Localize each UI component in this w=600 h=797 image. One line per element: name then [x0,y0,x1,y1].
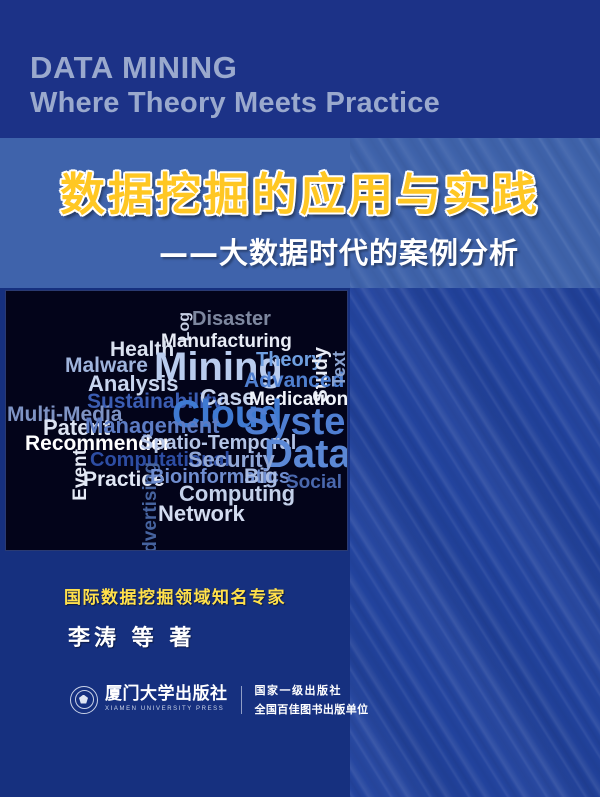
publisher-name-en: XIAMEN UNIVERSITY PRESS [105,706,228,712]
publisher-badges: 国家一级出版社 全国百佳图书出版单位 [255,682,369,717]
word-cloud-panel: LogDisasterManufacturingHealthMiningTheo… [5,290,348,551]
background-texture-lower [350,288,600,797]
book-cover: DATA MINING Where Theory Meets Practice … [0,0,600,797]
english-header: DATA MINING Where Theory Meets Practice [30,52,570,119]
publisher-badge-national: 国家一级出版社 [255,682,369,698]
publisher-badge-top100: 全国百佳图书出版单位 [255,701,369,717]
author-name: 李涛 等 著 [68,620,195,652]
publisher-names: 厦门大学出版社 XIAMEN UNIVERSITY PRESS [105,686,228,712]
word-cloud: LogDisasterManufacturingHealthMiningTheo… [6,291,347,550]
publisher-divider [241,686,242,714]
publisher-name-cn: 厦门大学出版社 [105,686,228,704]
main-title: 数据挖掘的应用与实践 [0,158,600,223]
publisher-block: 厦门大学出版社 XIAMEN UNIVERSITY PRESS 国家一级出版社 … [70,682,369,717]
word-cloud-term: Text [330,351,348,387]
expert-tagline: 国际数据挖掘领域知名专家 [0,583,350,608]
word-cloud-term: Disaster [192,309,271,329]
english-title-line-2: Where Theory Meets Practice [30,88,570,119]
subtitle: ——大数据时代的案例分析 [0,230,600,272]
word-cloud-term: Network [158,503,245,525]
english-title-line-1: DATA MINING [30,52,570,85]
university-seal-icon [70,686,98,714]
